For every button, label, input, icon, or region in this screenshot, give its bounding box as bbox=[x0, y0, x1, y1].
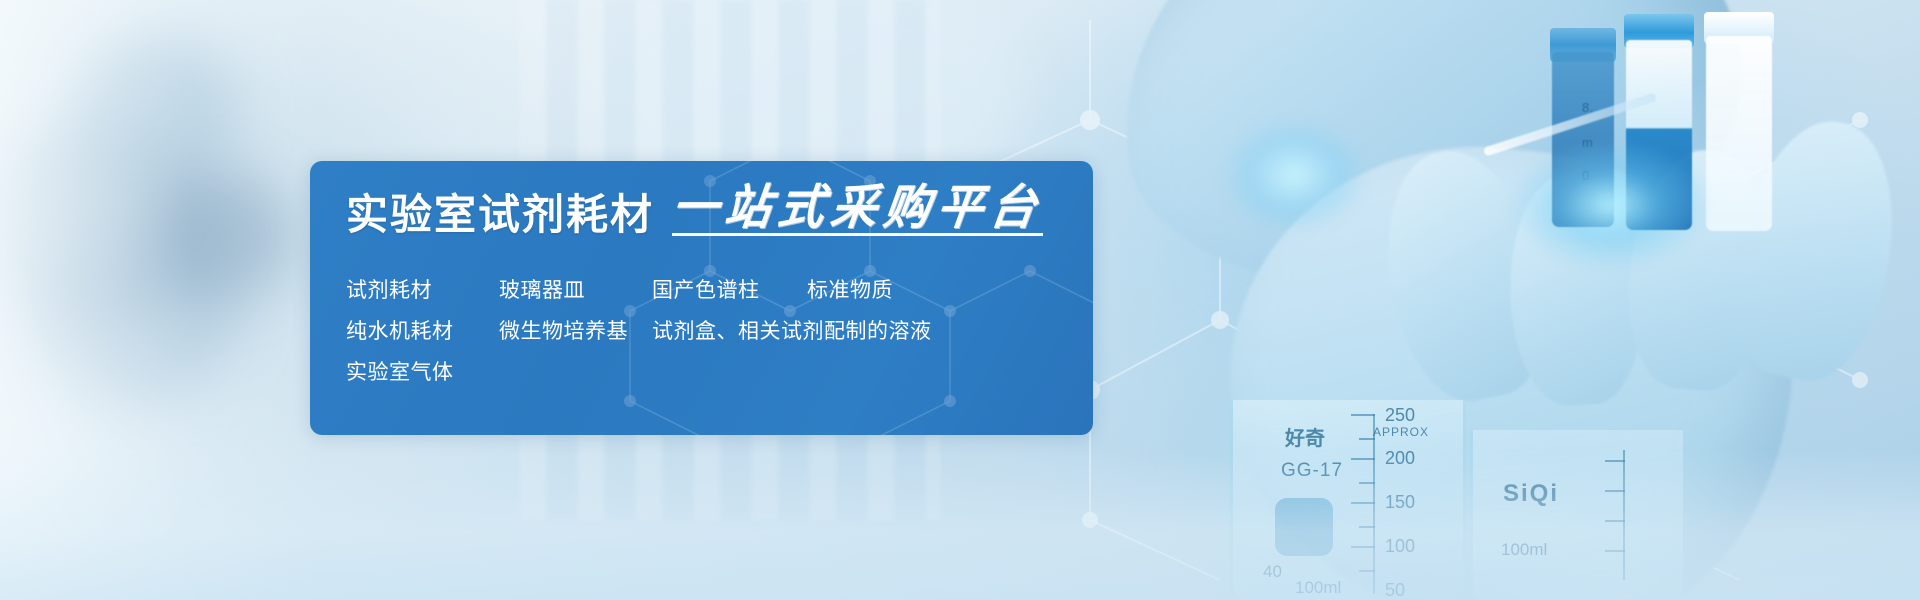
beaker-sub-mark: 40 bbox=[1263, 562, 1282, 582]
category-item-reference-material[interactable]: 标准物质 bbox=[807, 274, 967, 304]
category-item-water-purifier-consumables[interactable]: 纯水机耗材 bbox=[346, 315, 499, 345]
beaker-scale-50: 50 bbox=[1385, 580, 1405, 600]
category-item-microbial-culture-medium[interactable]: 微生物培养基 bbox=[499, 315, 652, 345]
beaker2-brand-label: SiQi bbox=[1503, 480, 1559, 508]
background-blur-blob bbox=[150, 170, 290, 300]
beaker-tick bbox=[1351, 546, 1375, 548]
category-list: 试剂耗材 玻璃器皿 国产色谱柱 标准物质 纯水机耗材 微生物培养基 试剂盒、相关… bbox=[346, 268, 1066, 391]
background-blur-blob bbox=[60, 40, 240, 190]
category-row: 实验室气体 bbox=[346, 350, 1066, 391]
beaker-tick bbox=[1351, 458, 1375, 460]
beaker-tick bbox=[1359, 570, 1375, 572]
beaker2-tick bbox=[1605, 550, 1625, 552]
beaker-graduated: 250 APPROX 200 150 100 50 好奇 GG-17 40 10… bbox=[1230, 400, 1466, 600]
beaker2-scale-line bbox=[1623, 450, 1625, 580]
beaker-scale-200: 200 bbox=[1385, 448, 1415, 469]
beaker2-tick bbox=[1605, 520, 1625, 522]
headline-brush-underline: 一站式采购平台 bbox=[672, 183, 1043, 236]
light-glow bbox=[1224, 120, 1364, 230]
lab-reagent-banner: 8. m 0. 250 APPROX 200 150 100 50 好奇 GG-… bbox=[0, 0, 1920, 600]
category-item-glassware[interactable]: 玻璃器皿 bbox=[499, 274, 652, 304]
promo-panel: 实验室试剂耗材 一站式采购平台 试剂耗材 玻璃器皿 国产色谱柱 标准物质 纯水机… bbox=[310, 161, 1093, 435]
category-item-reagent-kit-solutions[interactable]: 试剂盒、相关试剂配制的溶液 bbox=[652, 315, 932, 345]
headline-brush-text: 一站式采购平台 bbox=[669, 182, 1046, 232]
category-row: 纯水机耗材 微生物培养基 试剂盒、相关试剂配制的溶液 bbox=[346, 309, 1066, 350]
beaker-scale-150: 150 bbox=[1385, 492, 1415, 513]
beaker-model-label: GG-17 bbox=[1281, 460, 1343, 482]
beaker2-capacity-label: 100ml bbox=[1501, 540, 1547, 560]
beaker-tick bbox=[1351, 414, 1375, 416]
beaker-tick bbox=[1359, 482, 1375, 484]
beaker-secondary: SiQi 100ml bbox=[1470, 430, 1683, 600]
beaker-approx-label: APPROX bbox=[1373, 425, 1429, 439]
beaker-scale-100: 100 bbox=[1385, 536, 1415, 557]
beaker2-tick bbox=[1605, 490, 1625, 492]
panel-headline: 实验室试剂耗材 一站式采购平台 bbox=[346, 183, 1043, 236]
beaker-capacity-label: 100ml bbox=[1295, 578, 1341, 598]
category-row: 试剂耗材 玻璃器皿 国产色谱柱 标准物质 bbox=[346, 268, 1066, 309]
headline-main-text: 实验室试剂耗材 bbox=[346, 194, 654, 236]
beaker-tick bbox=[1359, 526, 1375, 528]
light-glow bbox=[1510, 140, 1710, 270]
beaker-tick bbox=[1351, 502, 1375, 504]
category-item-domestic-chromatography-column[interactable]: 国产色谱柱 bbox=[652, 274, 807, 304]
test-tube-clear bbox=[1706, 36, 1772, 231]
beaker-square-mark bbox=[1275, 498, 1333, 556]
category-item-reagent-consumables[interactable]: 试剂耗材 bbox=[346, 274, 499, 304]
beaker-scale-line bbox=[1373, 414, 1375, 594]
category-item-laboratory-gas[interactable]: 实验室气体 bbox=[346, 356, 499, 386]
beaker2-tick bbox=[1605, 460, 1625, 462]
beaker-brand-label: 好奇 bbox=[1285, 422, 1325, 451]
beaker-scale-250: 250 bbox=[1385, 405, 1415, 426]
